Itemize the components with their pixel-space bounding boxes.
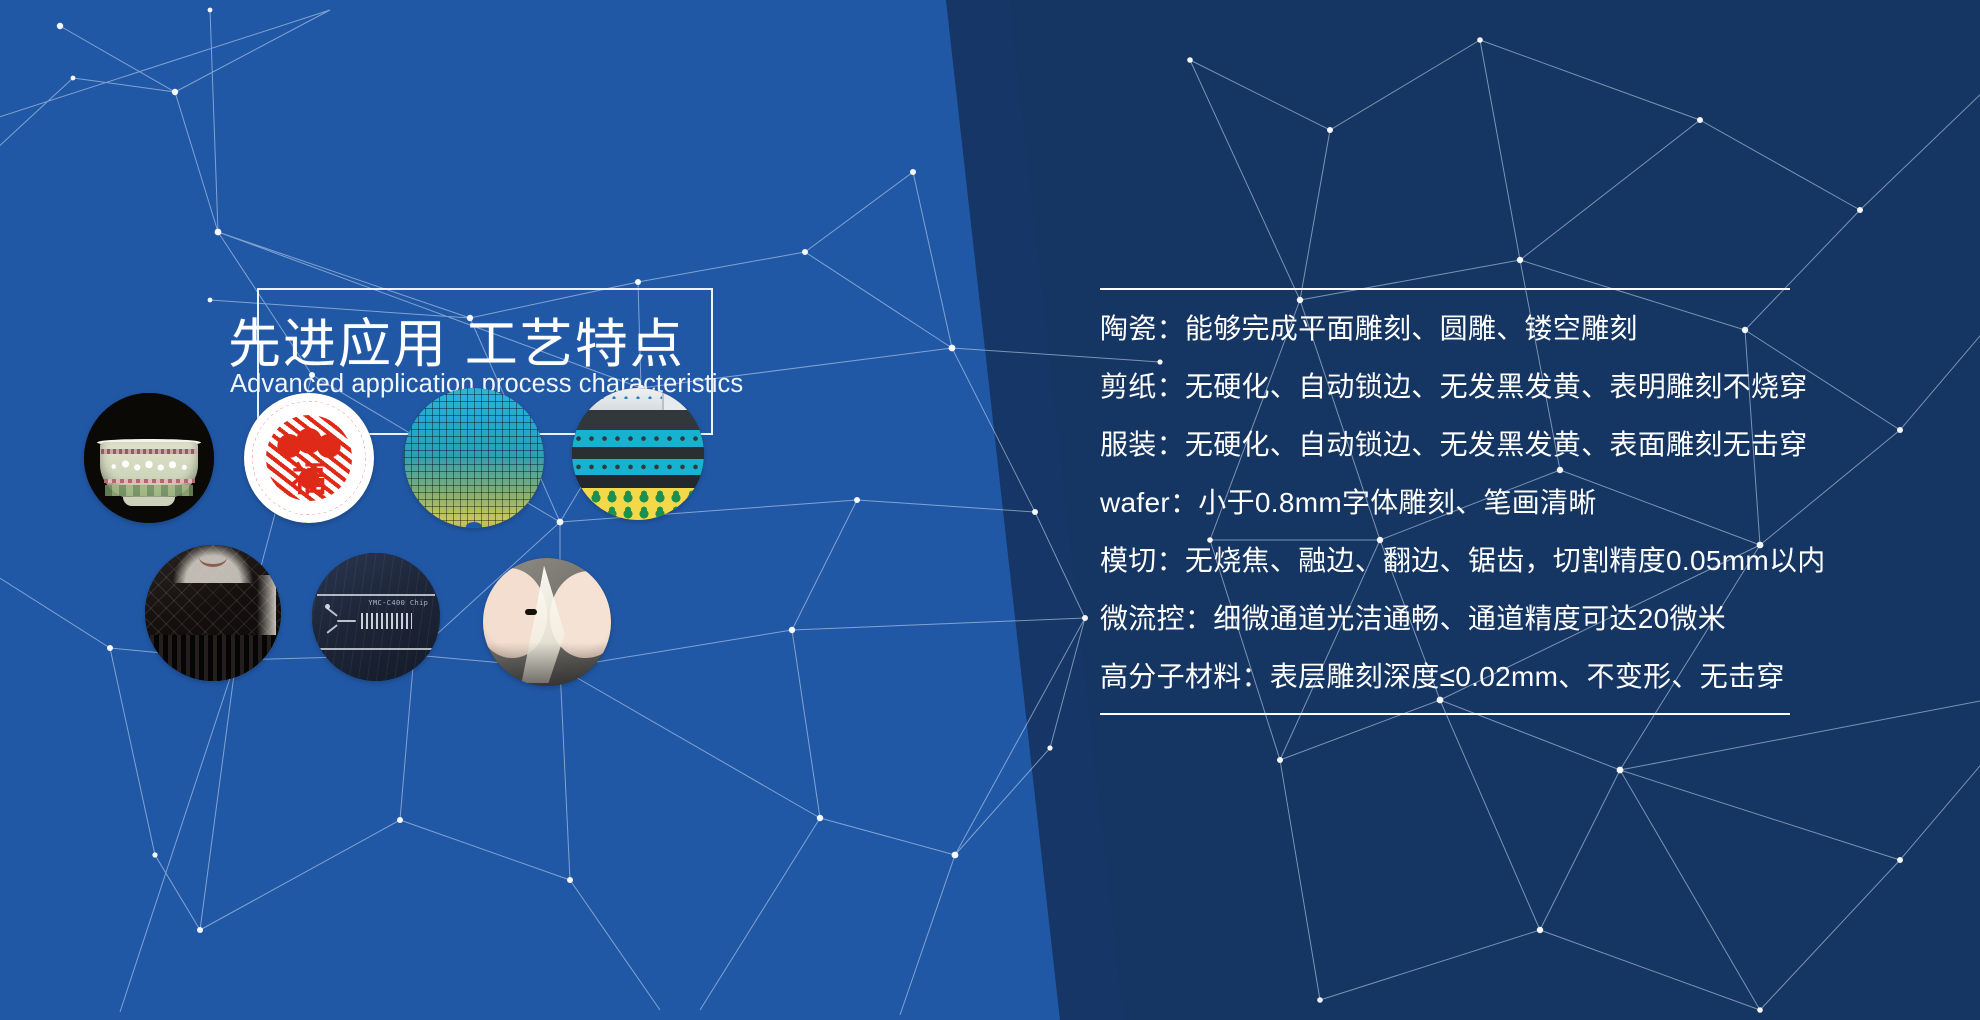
- banner-root: 先进应用 工艺特点 Advanced application process c…: [0, 0, 1980, 1020]
- polymer-film-photo: [483, 558, 611, 686]
- silicon-wafer-image: [404, 388, 544, 528]
- die-cut-film-image: [572, 388, 704, 520]
- spec-row-diecut: 模切：无烧焦、融边、翻边、锯齿，切割精度0.05mm以内: [1100, 544, 1800, 577]
- spec-row-papercut: 剪纸：无硬化、自动锁边、无发黑发黄、表明雕刻不烧穿: [1100, 370, 1800, 403]
- spec-row-microfluid: 微流控：细微通道光洁通畅、通道精度可达20微米: [1100, 602, 1800, 635]
- spec-row-apparel: 服装：无硬化、自动锁边、无发黑发黄、表面雕刻无击穿: [1100, 428, 1800, 461]
- spec-row-wafer: wafer：小于0.8mm字体雕刻、笔画清晰: [1100, 486, 1800, 519]
- ceramic-bowl-photo: [84, 393, 214, 523]
- spec-list-bottom-rule: [1100, 713, 1790, 715]
- spec-list: 陶瓷：能够完成平面雕刻、圆雕、镂空雕刻 剪纸：无硬化、自动锁边、无发黑发黄、表明…: [1100, 288, 1800, 715]
- black-garment-photo: [145, 545, 281, 681]
- die-cut-film-photo: [572, 388, 704, 520]
- paper-cut-fu-photo: 福: [244, 393, 374, 523]
- spec-row-ceramic: 陶瓷：能够完成平面雕刻、圆雕、镂空雕刻: [1100, 312, 1800, 345]
- silicon-wafer-photo: [404, 388, 544, 528]
- spec-rows: 陶瓷：能够完成平面雕刻、圆雕、镂空雕刻 剪纸：无硬化、自动锁边、无发黑发黄、表明…: [1100, 290, 1800, 703]
- microfluidic-chip-photo: YMC-C400 Chip: [312, 553, 440, 681]
- photo-gallery: 福: [0, 0, 946, 1020]
- microfluidic-chip-image: YMC-C400 Chip: [312, 553, 440, 681]
- paper-cut-image: 福: [244, 393, 374, 523]
- ceramic-bowl-image: [84, 393, 214, 523]
- black-garment-image: [145, 545, 281, 681]
- polymer-film-image: [483, 558, 611, 686]
- spec-row-polymer: 高分子材料：表层雕刻深度≤0.02mm、不变形、无击穿: [1100, 660, 1800, 693]
